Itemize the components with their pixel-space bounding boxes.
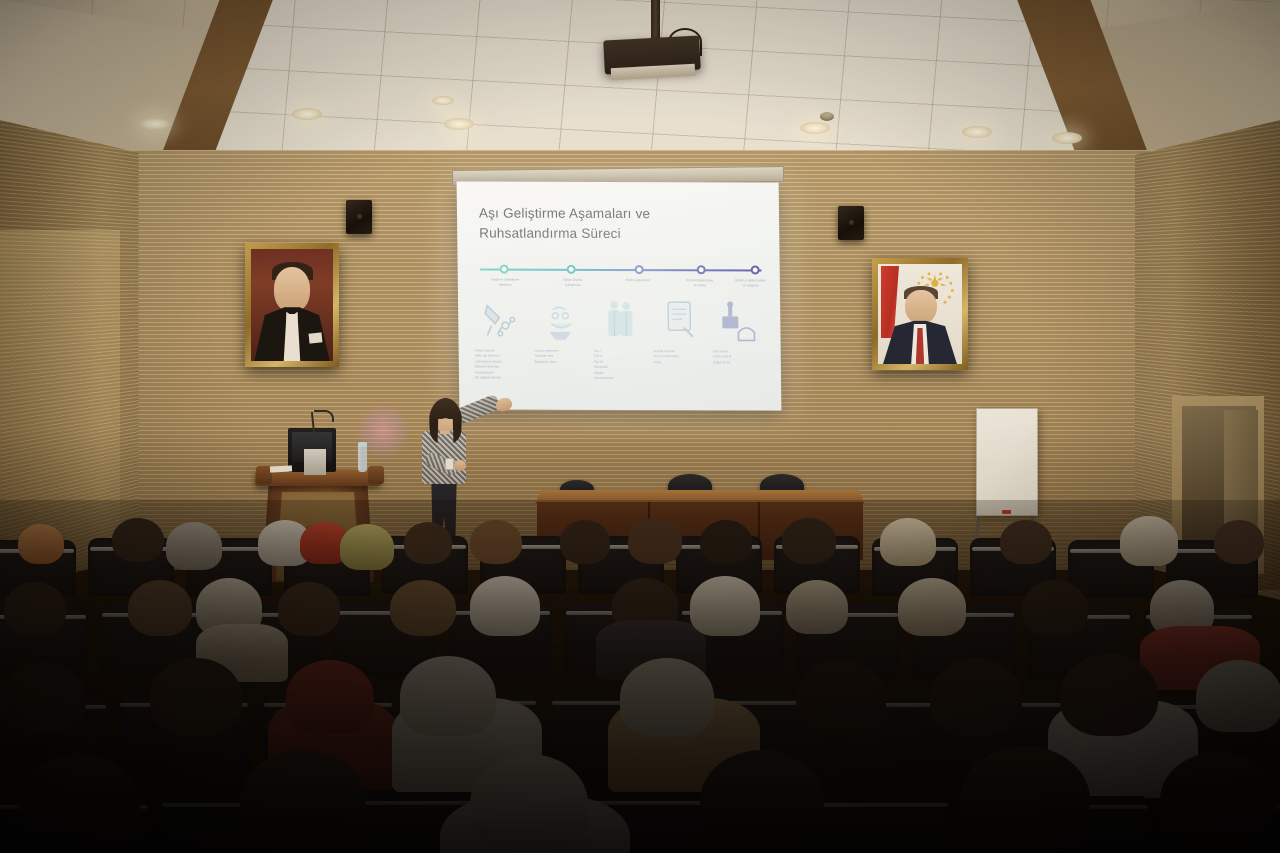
audience-member <box>112 518 164 562</box>
timeline-node-2 <box>567 264 576 273</box>
wall-speaker-right <box>838 206 864 240</box>
slide-columns: Antijen seçimi Aday aşı tasarımı Laborat… <box>474 291 767 382</box>
clinical-trial-people-icon <box>593 292 648 344</box>
ataturk-face <box>274 267 310 312</box>
slide-column-5: Seri üretim Kalite kontrol Soğuk zincir <box>712 292 767 382</box>
timeline-label-5: Üretim, Kalite Kontrol ve Dağıtım <box>723 278 779 288</box>
c5-b3: Soğuk zincir <box>713 360 767 366</box>
audience-member <box>1022 580 1088 636</box>
audience-member <box>404 522 452 564</box>
president-portrait <box>878 264 962 364</box>
lab-animal-testing-icon <box>533 292 588 344</box>
ataturk-portrait-image <box>251 249 333 361</box>
audience-member <box>930 658 1022 736</box>
slide-title-line-1: Aşı Geliştirme Aşamaları ve <box>479 204 729 224</box>
water-bottle <box>358 446 367 472</box>
downlight-7 <box>432 96 454 105</box>
timeline-label-1: Keşif ve Geliştirme Aşaması <box>477 278 533 288</box>
audience-member <box>18 524 64 564</box>
audience-member <box>286 660 374 734</box>
c3-b6: Doz belirleme <box>594 376 648 382</box>
factory-production-icon <box>712 292 767 344</box>
downlight-1 <box>140 118 170 130</box>
c4-b3: Onay <box>653 360 707 366</box>
slide-timeline: Keşif ve Geliştirme Aşaması Klinik Önces… <box>480 266 762 275</box>
slide-title-line-2: Ruhsatlandırma Süreci <box>479 223 729 243</box>
smoke-detector <box>820 112 834 121</box>
downlight-4 <box>800 122 830 134</box>
audience-member <box>1120 516 1178 566</box>
c2-b3: Bağışıklık yanıtı <box>534 360 588 366</box>
timeline-node-5 <box>750 265 759 274</box>
audience-member <box>782 518 836 564</box>
gooseneck-microphone-arm <box>314 410 334 422</box>
audience-member <box>1196 660 1280 732</box>
timeline-track <box>480 269 762 272</box>
podium-right-ear <box>368 466 384 484</box>
audience-member <box>4 582 66 636</box>
tl5-l2: ve Dağıtım <box>723 283 779 288</box>
downlight-6 <box>1052 132 1082 144</box>
audience-member <box>166 522 222 570</box>
audience-member <box>628 518 682 564</box>
c1-b6: Ön değerlendirme <box>475 376 529 382</box>
timeline-node-1 <box>499 264 508 273</box>
audience-member <box>560 520 610 564</box>
audience-member <box>880 518 936 566</box>
podium-papers <box>270 465 292 472</box>
audience-member <box>700 750 824 852</box>
audience-member <box>400 656 496 736</box>
audience-member <box>796 660 886 736</box>
downlight-2 <box>292 108 322 120</box>
audience-member <box>470 754 588 852</box>
audience <box>0 500 1280 853</box>
timeline-label-4: Ruhsat Başvurusu ve Onay <box>672 278 728 288</box>
audience-member <box>1160 752 1276 848</box>
president-portrait-frame <box>872 258 968 370</box>
tl1-l2: Aşaması <box>477 282 533 287</box>
tl4-l2: ve Onay <box>672 283 728 288</box>
audience-member <box>1060 654 1158 736</box>
projection-screen: Aşı Geliştirme Aşamaları ve Ruhsatlandır… <box>457 181 782 410</box>
downlight-5 <box>962 126 992 138</box>
wall-speaker-left <box>346 200 372 234</box>
audience-member <box>470 576 540 636</box>
projector-mount-pole <box>651 0 660 42</box>
audience-member <box>960 746 1090 853</box>
audience-member <box>690 576 760 636</box>
tl3-l1: Klinik Çalışmalar <box>610 278 666 283</box>
audience-member <box>0 662 86 734</box>
audience-member <box>1000 520 1052 564</box>
slide-column-3-bullets: Faz I Faz II Faz III Güvenlilik Etkilili… <box>594 349 648 382</box>
ataturk-portrait <box>251 249 333 361</box>
slide-column-4: Ruhsat dosyası Kurum incelemesi Onay <box>652 292 707 382</box>
audience-member <box>786 580 848 634</box>
president-face <box>905 290 937 324</box>
downlight-3 <box>444 118 474 130</box>
audience-member <box>20 754 140 853</box>
slide-column-1-bullets: Antijen seçimi Aday aşı tasarımı Laborat… <box>475 348 529 381</box>
podium-laptop <box>304 449 326 475</box>
audience-member <box>470 520 522 564</box>
approval-document-icon <box>652 292 707 344</box>
ataturk-pocket-square <box>309 332 323 343</box>
ataturk-portrait-frame <box>245 243 339 367</box>
slide-column-1: Antijen seçimi Aday aşı tasarımı Laborat… <box>474 291 529 381</box>
slide-column-4-bullets: Ruhsat dosyası Kurum incelemesi Onay <box>653 349 707 365</box>
slide-column-2-bullets: Hayvan deneyleri Toksisite testi Bağışık… <box>534 349 588 365</box>
audience-member <box>620 658 714 736</box>
conference-hall-scene: Aşı Geliştirme Aşamaları ve Ruhsatlandır… <box>0 0 1280 853</box>
audience-member <box>340 524 394 570</box>
audience-member <box>128 580 192 636</box>
tl2-l2: Çalışmalar <box>545 283 601 288</box>
slide-column-3: Faz I Faz II Faz III Güvenlilik Etkilili… <box>593 292 648 382</box>
audience-member <box>150 658 242 736</box>
slide-column-2: Hayvan deneyleri Toksisite testi Bağışık… <box>533 292 588 382</box>
audience-member <box>898 578 966 636</box>
slide-column-5-bullets: Seri üretim Kalite kontrol Soğuk zincir <box>713 349 767 365</box>
audience-member <box>390 580 456 636</box>
presenter-lower-hand <box>454 460 466 471</box>
timeline-node-4 <box>697 265 706 274</box>
timeline-label-3: Klinik Çalışmalar <box>610 278 666 283</box>
timeline-label-2: Klinik Öncesi Çalışmalar <box>545 278 601 288</box>
audience-member <box>700 520 752 564</box>
audience-member <box>1214 520 1264 564</box>
audience-member <box>278 582 340 636</box>
president-portrait-image <box>878 264 962 364</box>
presenter-name-badge <box>445 458 454 470</box>
audience-member <box>240 750 366 853</box>
slide-title: Aşı Geliştirme Aşamaları ve Ruhsatlandır… <box>479 204 730 244</box>
microscope-research-icon <box>474 291 529 343</box>
timeline-node-3 <box>635 265 644 274</box>
